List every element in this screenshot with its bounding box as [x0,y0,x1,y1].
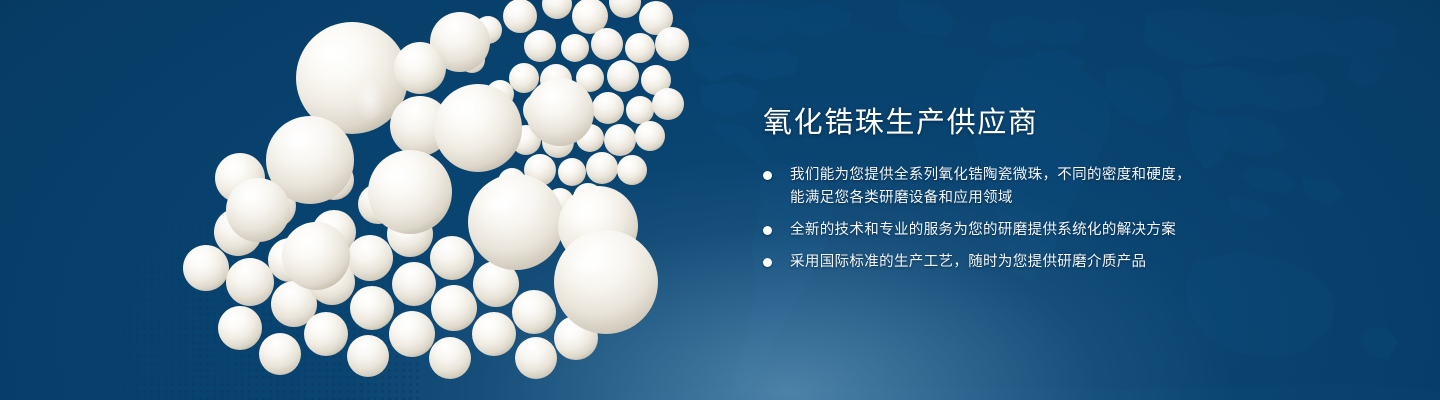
page-title: 氧化锆珠生产供应商 [763,104,1233,142]
zirconia-ceramic-beads-photo [120,0,740,400]
bullet-text-line: 能满足您各类研磨设备和应用领域 [790,187,1233,210]
filled-circle-bullet-icon [763,171,772,180]
list-item: 全新的技术和专业的服务为您的研磨提供系统化的解决方案 [763,219,1233,242]
list-item: 采用国际标准的生产工艺，随时为您提供研磨介质产品 [763,251,1233,274]
bullet-text-line: 我们能为您提供全系列氧化锆陶瓷微珠，不同的密度和硬度， [790,164,1233,187]
list-item: 我们能为您提供全系列氧化锆陶瓷微珠，不同的密度和硬度， 能满足您各类研磨设备和应… [763,164,1233,210]
filled-circle-bullet-icon [763,226,772,235]
bullet-text-line: 采用国际标准的生产工艺，随时为您提供研磨介质产品 [790,251,1233,274]
hero-banner: 氧化锆珠生产供应商 我们能为您提供全系列氧化锆陶瓷微珠，不同的密度和硬度， 能满… [0,0,1440,400]
bullet-text-line: 全新的技术和专业的服务为您的研磨提供系统化的解决方案 [790,219,1233,242]
feature-bullet-list: 我们能为您提供全系列氧化锆陶瓷微珠，不同的密度和硬度， 能满足您各类研磨设备和应… [763,164,1233,274]
banner-copy-block: 氧化锆珠生产供应商 我们能为您提供全系列氧化锆陶瓷微珠，不同的密度和硬度， 能满… [763,104,1233,274]
filled-circle-bullet-icon [763,258,772,267]
